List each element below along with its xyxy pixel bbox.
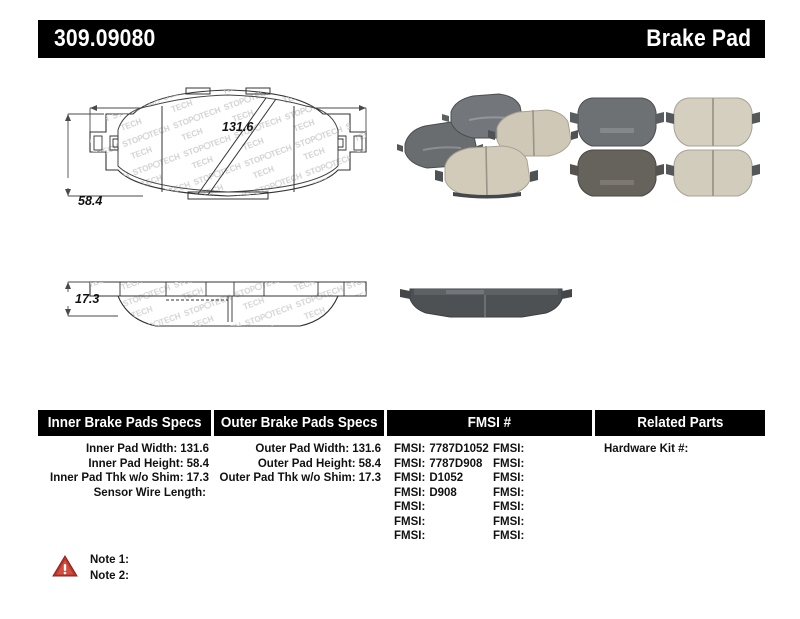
pad-flatlay-backing-2 <box>570 150 664 196</box>
column-header-related-parts: Related Parts <box>595 410 765 436</box>
fmsi-label: FMSI: <box>394 516 425 528</box>
spec-row: Sensor Wire Length: <box>38 486 209 501</box>
product-photo-angled <box>393 88 578 200</box>
fmsi-row: FMSI: <box>493 500 592 515</box>
width-dimension-label: 131.6 <box>222 120 253 134</box>
spec-value: 131.6 <box>352 443 381 455</box>
spec-value: 131.6 <box>180 443 209 455</box>
product-type: Brake Pad <box>646 25 751 53</box>
spec-label: Inner Pad Thk w/o Shim: <box>50 472 184 484</box>
fmsi-row: FMSI:D908 <box>394 486 493 501</box>
fmsi-row: FMSI:7787D1052 <box>394 442 493 457</box>
warning-triangle-icon <box>52 554 78 578</box>
column-header-inner-specs: Inner Brake Pads Specs <box>38 410 211 436</box>
fmsi-label: FMSI: <box>394 530 425 542</box>
fmsi-row: FMSI: <box>493 457 592 472</box>
fmsi-value: D1052 <box>429 472 463 484</box>
spec-row: Outer Pad Thk w/o Shim:17.3 <box>214 471 381 486</box>
note-1: Note 1: <box>90 552 129 568</box>
spec-table-body-row: Inner Pad Width:131.6 Inner Pad Height:5… <box>38 442 765 544</box>
fmsi-row: FMSI:D1052 <box>394 471 493 486</box>
fmsi-value: 7787D1052 <box>429 443 488 455</box>
fmsi-row: FMSI: <box>493 471 592 486</box>
fmsi-column: FMSI:7787D1052 FMSI:7787D908 FMSI:D1052 … <box>386 442 592 544</box>
fmsi-label: FMSI: <box>394 487 425 499</box>
title-bar: 309.09080 Brake Pad <box>38 20 765 58</box>
pad-flatlay-friction-1 <box>666 98 760 146</box>
fmsi-row: FMSI: <box>493 486 592 501</box>
spec-table-header-row: Inner Brake Pads Specs Outer Brake Pads … <box>38 410 765 436</box>
spec-label: Outer Pad Height: <box>258 458 356 470</box>
related-parts-column: Hardware Kit #: <box>595 442 765 544</box>
product-photo-edge <box>396 275 576 330</box>
fmsi-label: FMSI: <box>394 443 425 455</box>
fmsi-label: FMSI: <box>493 501 524 513</box>
spec-row: Inner Pad Thk w/o Shim:17.3 <box>38 471 209 486</box>
fmsi-label: FMSI: <box>493 458 524 470</box>
fmsi-label: FMSI: <box>394 458 425 470</box>
spec-row: Inner Pad Height:58.4 <box>38 457 209 472</box>
spec-label: Sensor Wire Length: <box>94 487 206 499</box>
spec-label: Inner Pad Width: <box>86 443 177 455</box>
fmsi-list-left: FMSI:7787D1052 FMSI:7787D908 FMSI:D1052 … <box>394 442 493 544</box>
spec-label: Inner Pad Height: <box>88 458 183 470</box>
fmsi-value: 7787D908 <box>429 458 482 470</box>
fmsi-row: FMSI: <box>493 442 592 457</box>
spec-row: Outer Pad Width:131.6 <box>214 442 381 457</box>
fmsi-list-right: FMSI: FMSI: FMSI: FMSI: FMSI: <box>493 442 592 544</box>
note-2: Note 2: <box>90 568 129 584</box>
column-header-fmsi: FMSI # <box>387 410 592 436</box>
fmsi-row: FMSI: <box>394 529 493 544</box>
fmsi-label: FMSI: <box>493 530 524 542</box>
fmsi-row: FMSI: <box>493 515 592 530</box>
notes-section: Note 1: Note 2: <box>52 552 129 584</box>
fmsi-label: FMSI: <box>394 501 425 513</box>
column-header-outer-specs: Outer Brake Pads Specs <box>214 410 383 436</box>
fmsi-label: FMSI: <box>493 472 524 484</box>
fmsi-row: FMSI: <box>493 529 592 544</box>
drawing-area: STOP TECH TECH <box>38 70 765 380</box>
outer-specs-column: Outer Pad Width:131.6 Outer Pad Height:5… <box>214 442 383 544</box>
spec-value: 58.4 <box>359 458 381 470</box>
spec-row: Outer Pad Height:58.4 <box>214 457 381 472</box>
pad-watermark <box>38 70 418 210</box>
spec-value: 17.3 <box>359 472 381 484</box>
spec-label: Outer Pad Thk w/o Shim: <box>220 472 356 484</box>
fmsi-label: FMSI: <box>493 487 524 499</box>
fmsi-row: FMSI: <box>394 515 493 530</box>
spec-value: 58.4 <box>187 458 209 470</box>
fmsi-label: FMSI: <box>394 472 425 484</box>
inner-specs-column: Inner Pad Width:131.6 Inner Pad Height:5… <box>38 442 211 544</box>
related-parts-label: Hardware Kit #: <box>604 443 688 455</box>
related-parts-row: Hardware Kit #: <box>595 442 765 457</box>
spec-table: Inner Brake Pads Specs Outer Brake Pads … <box>38 410 765 544</box>
thickness-dimension-label: 17.3 <box>75 292 99 306</box>
pad-flatlay-friction-2 <box>666 150 760 196</box>
fmsi-row: FMSI: <box>394 500 493 515</box>
spec-value: 17.3 <box>187 472 209 484</box>
fmsi-label: FMSI: <box>493 516 524 528</box>
spec-sheet-page: 309.09080 Brake Pad STOP TECH TECH <box>0 0 800 619</box>
pad-flatlay-backing-1 <box>570 98 664 146</box>
product-photo-flatlay <box>568 88 763 200</box>
fmsi-label: FMSI: <box>493 443 524 455</box>
fmsi-row: FMSI:7787D908 <box>394 457 493 472</box>
technical-drawing: STOP TECH TECH <box>38 70 418 360</box>
part-number: 309.09080 <box>54 25 155 53</box>
spec-row: Inner Pad Width:131.6 <box>38 442 209 457</box>
height-dimension-label: 58.4 <box>78 194 102 208</box>
spec-label: Outer Pad Width: <box>255 443 349 455</box>
fmsi-value: D908 <box>429 487 457 499</box>
